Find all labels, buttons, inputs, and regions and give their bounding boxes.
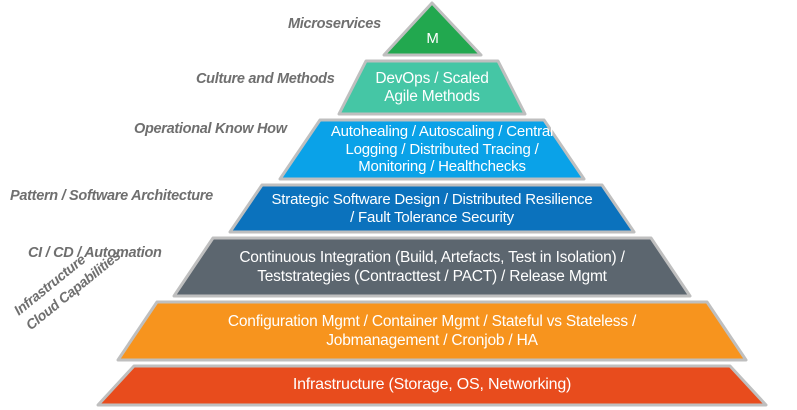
tier-shape-microservices[interactable]	[384, 3, 481, 55]
tier-shape-operational-know-how[interactable]	[280, 120, 584, 179]
side-label-pattern-software-architecture: Pattern / Software Architecture	[10, 188, 213, 204]
pyramid-shapes	[0, 0, 797, 410]
tier-shape-culture-and-methods[interactable]	[339, 61, 525, 114]
side-label-microservices: Microservices	[288, 16, 381, 32]
side-label-culture-and-methods: Culture and Methods	[196, 71, 335, 87]
tier-shape-pattern-software-architecture[interactable]	[230, 185, 634, 232]
tier-shape-ci-cd-automation[interactable]	[174, 238, 690, 296]
side-label-operational-know-how: Operational Know How	[134, 121, 287, 137]
pyramid-diagram: M DevOps / Scaled Agile Methods Autoheal…	[0, 0, 797, 410]
tier-shape-infrastructure[interactable]	[98, 366, 766, 405]
tier-shape-infrastructure-cloud-capabilities[interactable]	[118, 302, 746, 360]
